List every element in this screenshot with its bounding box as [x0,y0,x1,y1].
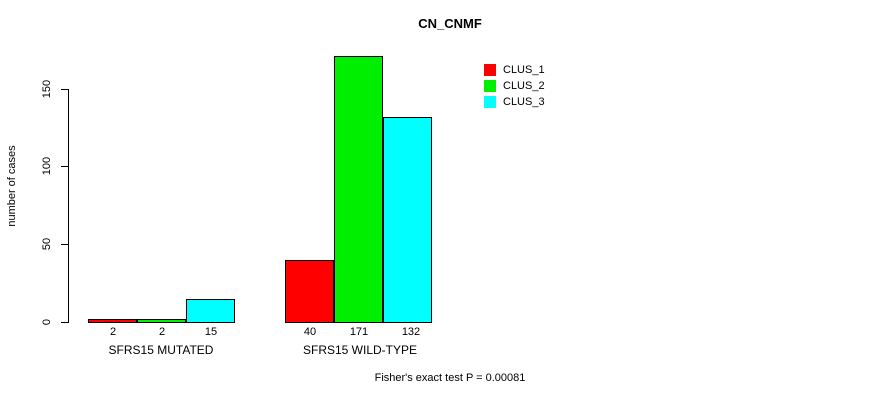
chart-canvas: CN_CNMF number of cases 0 50 100 150 2 2… [0,0,890,400]
y-tick-label-50: 50 [41,224,53,264]
legend-swatch-clus3 [484,96,496,108]
bar-value-mutated-clus3: 15 [181,326,241,338]
y-tick-label-100: 100 [41,146,53,186]
group-label-mutated: SFRS15 MUTATED [51,343,271,357]
legend-label-clus2: CLUS_2 [503,80,545,92]
statistical-test-note: Fisher's exact test P = 0.00081 [340,372,560,384]
chart-legend: CLUS_1 CLUS_2 CLUS_3 [484,62,545,110]
bar-wildtype-clus1[interactable] [285,260,334,323]
legend-label-clus3: CLUS_3 [503,96,545,108]
legend-swatch-clus2 [484,80,496,92]
bar-wildtype-clus3[interactable] [383,117,432,323]
bar-mutated-clus3[interactable] [186,299,235,323]
bar-mutated-clus2[interactable] [137,319,186,323]
legend-swatch-clus1 [484,64,496,76]
legend-label-clus1: CLUS_1 [503,64,545,76]
y-axis-line [68,89,69,323]
legend-item-clus3[interactable]: CLUS_3 [484,94,545,110]
chart-title: CN_CNMF [340,16,560,31]
bar-wildtype-clus2[interactable] [334,56,383,323]
y-tick-100 [61,166,68,167]
bar-value-wildtype-clus3: 132 [381,326,441,338]
y-tick-0 [61,322,68,323]
bar-value-wildtype-clus2: 171 [329,326,389,338]
y-axis-label: number of cases [6,126,18,246]
y-tick-label-0: 0 [41,302,53,342]
bar-mutated-clus1[interactable] [88,319,137,323]
y-tick-150 [61,89,68,90]
legend-item-clus1[interactable]: CLUS_1 [484,62,545,78]
y-tick-50 [61,244,68,245]
legend-item-clus2[interactable]: CLUS_2 [484,78,545,94]
group-label-wildtype: SFRS15 WILD-TYPE [250,343,470,357]
y-tick-label-150: 150 [41,69,53,109]
